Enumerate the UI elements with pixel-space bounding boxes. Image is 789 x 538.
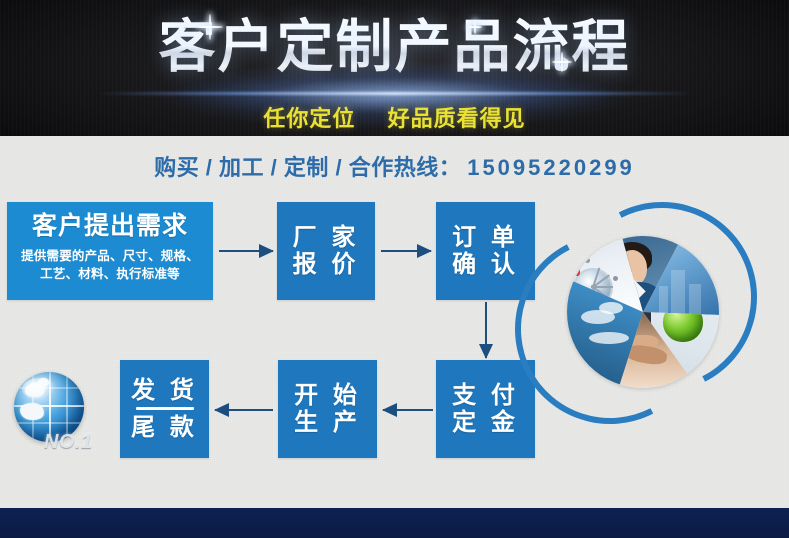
flow-step-line-1: 发 货 [131,377,198,404]
page-subtitle: 任你定位 好品质看得见 [0,101,789,133]
arrow-head [479,344,493,359]
arrow-head [417,244,432,258]
flow-step-line-1: 订 单 [452,224,519,251]
flow-step-line-2: 定 金 [452,409,519,436]
building-shape [671,270,685,316]
no1-badge-text: NO.1 [44,431,93,454]
header-banner: 客户定制产品流程 任你定位 好品质看得见 [0,0,789,136]
network-node [585,258,590,263]
flow-step-line-2: 报 价 [293,251,360,278]
flow-step-ship-final-payment[interactable]: 发 货 尾 款 [120,360,209,458]
flow-step-line-2: 生 产 [294,409,361,436]
arrow-left-icon [383,403,433,417]
circular-photo-collage [549,224,741,416]
footer-bar [0,508,789,538]
cloud-shape [589,332,629,344]
arrow-right-icon [219,244,273,258]
subtitle-left-text: 任你定位 [263,106,355,131]
hotline-phone-number: 15095220299 [467,155,635,180]
flow-step-customer-request[interactable]: 客户提出需求 提供需要的产品、尺寸、规格、 工艺、材料、执行标准等 [7,202,213,300]
promo-banner-page: 客户定制产品流程 任你定位 好品质看得见 购买 / 加工 / 定制 / 合作热线… [0,0,789,538]
flow-step-order-confirm[interactable]: 订 单 确 认 [436,202,535,300]
flow-step-line-2: 尾 款 [131,414,198,441]
flow-step-line-1: 开 始 [294,382,361,409]
network-red-figure-icon [571,264,580,276]
flow-step-divider [136,407,194,410]
arrow-right-icon [381,244,431,258]
globe-highlight [22,378,56,400]
flow-step-title: 客户提出需求 [32,212,188,241]
hotline-text: 购买 / 加工 / 定制 / 合作热线：15095220299 [0,150,789,182]
flow-step-line-1: 支 付 [452,382,519,409]
flow-step-start-production[interactable]: 开 始 生 产 [278,360,377,458]
flow-step-subtitle-line-1: 提供需要的产品、尺寸、规格、 [21,247,199,265]
arrow-head [259,244,274,258]
subtitle-right-text: 好品质看得见 [388,106,526,131]
building-shape [659,286,668,316]
flow-step-line-1: 厂 家 [293,224,360,251]
collage-disc [567,236,719,388]
page-title: 客户定制产品流程 [0,12,789,83]
arrow-left-icon [215,403,273,417]
flow-step-pay-deposit[interactable]: 支 付 定 金 [436,360,535,458]
arrow-down-icon [479,302,493,358]
building-shape [689,284,701,316]
network-node [613,276,618,281]
flow-step-subtitle-line-2: 工艺、材料、执行标准等 [21,265,199,283]
hotline-label: 购买 / 加工 / 定制 / 合作热线： [154,155,461,180]
globe-no1-logo: NO.1 [8,366,100,458]
arrow-head [382,403,397,417]
arrow-head [214,403,229,417]
flow-step-factory-quote[interactable]: 厂 家 报 价 [277,202,375,300]
flow-step-line-2: 确 认 [452,251,519,278]
cloud-shape [599,302,623,314]
header-light-streak [95,92,695,95]
flow-step-subtitle: 提供需要的产品、尺寸、规格、 工艺、材料、执行标准等 [21,247,199,283]
